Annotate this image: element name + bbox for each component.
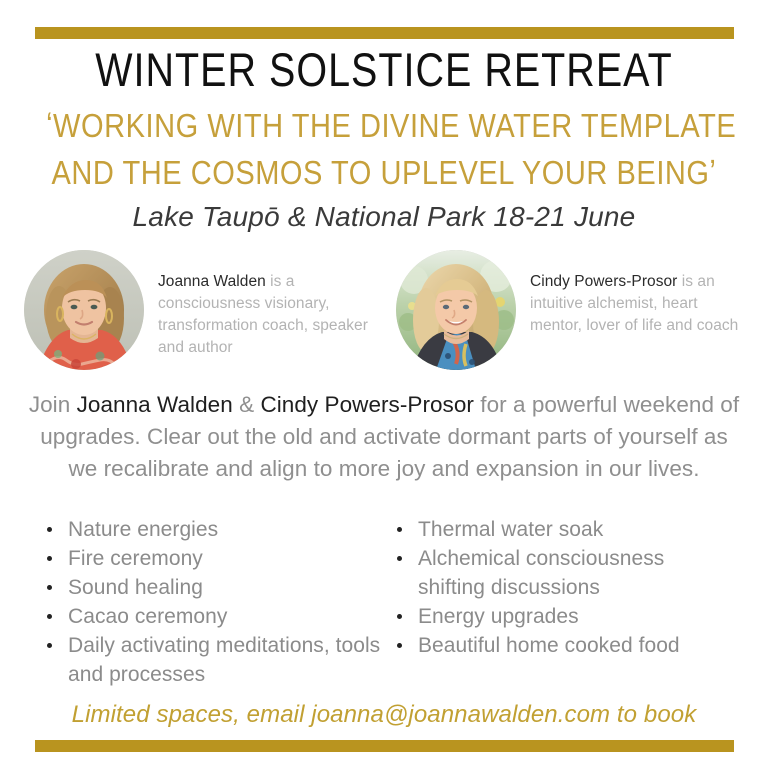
presenter-name: Joanna Walden <box>158 273 266 290</box>
list-item: Fire ceremony <box>64 544 386 573</box>
dateline: Lake Taupō & National Park 18-21 June <box>0 200 768 234</box>
cindy-powers-prosor-portrait <box>396 250 516 370</box>
intro-paragraph: Join Joanna Walden & Cindy Powers-Prosor… <box>24 389 744 485</box>
list-item: Beautiful home cooked food <box>414 631 736 660</box>
list-item: Nature energies <box>64 515 386 544</box>
page-title: WINTER SOLSTICE RETREAT <box>61 45 706 95</box>
presenter-joanna-walden: Joanna Walden is a consciousness visiona… <box>24 250 376 370</box>
intro-prefix: Join <box>29 392 77 417</box>
intro-name-joanna: Joanna Walden <box>77 392 233 417</box>
list-item: Energy upgrades <box>414 602 736 631</box>
offerings-left-list: Nature energies Fire ceremony Sound heal… <box>36 515 386 689</box>
list-item: Sound healing <box>64 573 386 602</box>
list-item: Alchemical consciousness shifting discus… <box>414 544 736 602</box>
offerings-right-list: Thermal water soak Alchemical consciousn… <box>386 515 736 660</box>
booking-footer-text: Limited spaces, email joanna@joannawalde… <box>0 700 768 730</box>
list-item: Daily activating meditations, tools and … <box>64 631 386 689</box>
bottom-gold-divider <box>35 740 734 752</box>
intro-name-cindy: Cindy Powers-Prosor <box>260 392 474 417</box>
presenter-bio: Cindy Powers-Prosor is an intuitive alch… <box>530 250 748 337</box>
presenter-bio: Joanna Walden is a consciousness visiona… <box>158 250 376 359</box>
presenter-name: Cindy Powers-Prosor <box>530 273 677 290</box>
offerings-left-column: Nature energies Fire ceremony Sound heal… <box>36 515 386 689</box>
retreat-flyer: WINTER SOLSTICE RETREAT ʻWORKING WITH TH… <box>0 0 768 768</box>
subtitle-line-2: AND THE COSMOS TO UPLEVEL YOUR BEINGʼ <box>46 155 722 191</box>
list-item: Thermal water soak <box>414 515 736 544</box>
offerings-section: Nature energies Fire ceremony Sound heal… <box>36 515 736 689</box>
joanna-walden-portrait <box>24 250 144 370</box>
offerings-right-column: Thermal water soak Alchemical consciousn… <box>386 515 736 689</box>
presenters-section: Joanna Walden is a consciousness visiona… <box>24 250 748 370</box>
list-item: Cacao ceremony <box>64 602 386 631</box>
presenter-cindy-powers-prosor: Cindy Powers-Prosor is an intuitive alch… <box>396 250 748 370</box>
top-gold-divider <box>35 27 734 39</box>
subtitle-line-1: ʻWORKING WITH THE DIVINE WATER TEMPLATE <box>46 108 722 144</box>
intro-conjunction: & <box>233 392 261 417</box>
